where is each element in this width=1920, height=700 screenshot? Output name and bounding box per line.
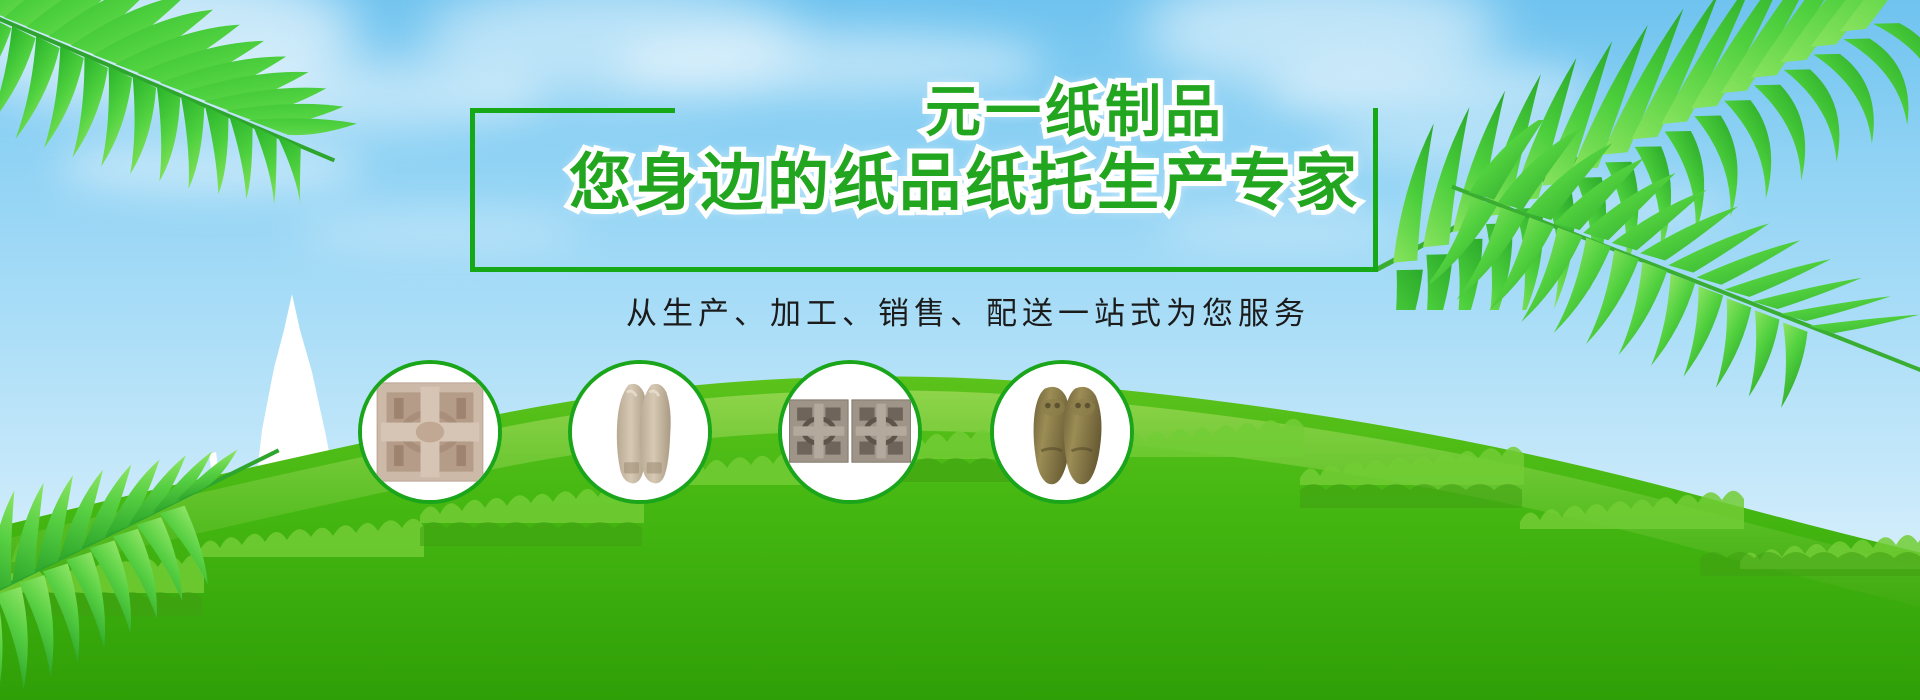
molded-pulp-twin-trays-image (782, 364, 918, 500)
grass-texture (0, 300, 1920, 700)
headline-subtitle: 从生产、加工、销售、配送一站式为您服务 (8, 288, 1920, 333)
molded-pulp-square-tray-image (362, 364, 498, 500)
green-hill (0, 300, 1920, 700)
dark-pulp-shoe-forms-image (994, 364, 1130, 500)
paper-pulp-shoe-inserts-image (572, 364, 708, 500)
cloud-shape (620, 30, 1040, 96)
promo-banner: 元一纸制品 您身边的纸品纸托生产专家 从生产、加工、销售、配送一站式为您服务 (0, 0, 1920, 700)
cloud-shape (60, 140, 360, 194)
cloud-shape (1420, 185, 1720, 231)
headline-frame (470, 108, 1378, 272)
product-circle-paper-pulp-shoe-inserts[interactable] (568, 360, 712, 504)
product-circle-dark-pulp-shoe-forms[interactable] (990, 360, 1134, 504)
product-circle-molded-pulp-twin-trays[interactable] (778, 360, 922, 504)
product-circle-molded-pulp-square-tray[interactable] (358, 360, 502, 504)
